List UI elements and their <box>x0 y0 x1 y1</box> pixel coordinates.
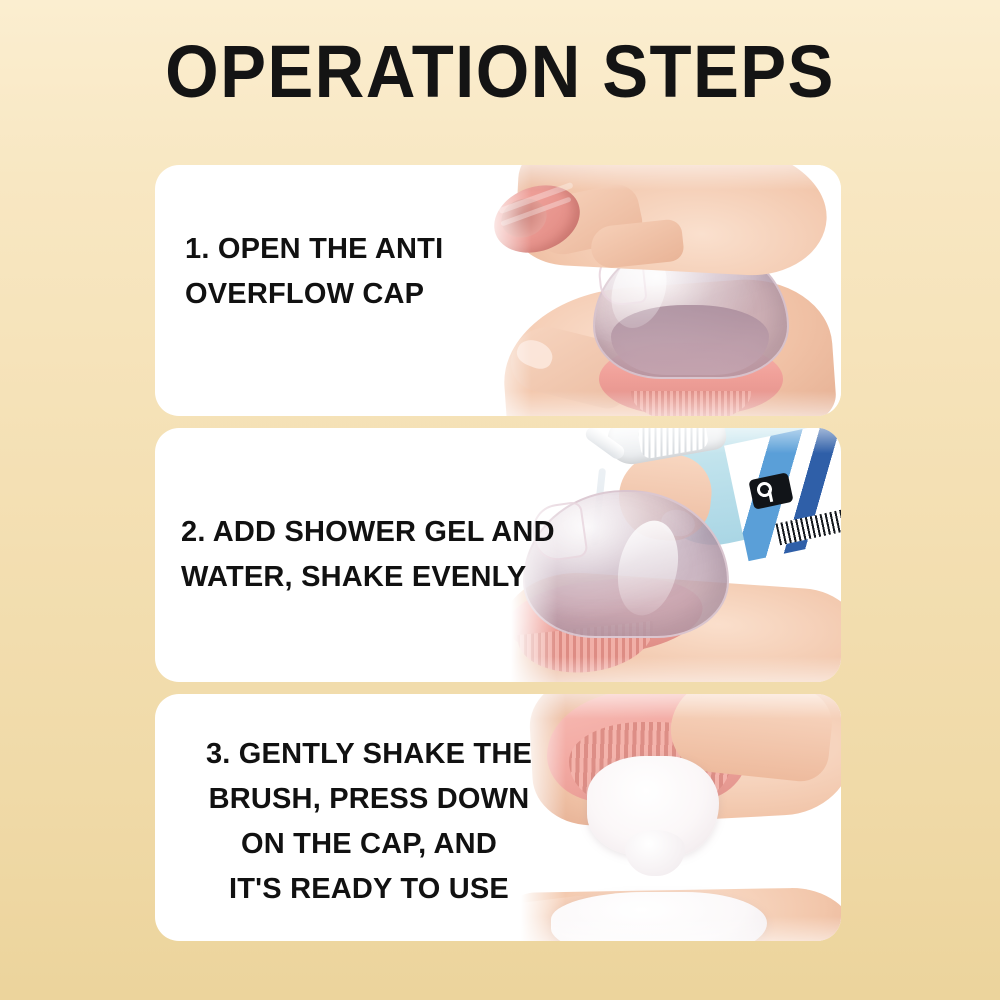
infographic-page: OPERATION STEPS 1. OPEN THE ANTI OVERFLO… <box>0 0 1000 1000</box>
foam-in-palm <box>551 892 767 941</box>
step-3-photo <box>521 694 841 941</box>
step-card-2: 2. ADD SHOWER GEL AND WATER, SHAKE EVENL… <box>155 428 841 682</box>
step-1-line-1: 1. OPEN THE ANTI <box>185 227 585 272</box>
step-3-line-4: IT'S READY TO USE <box>169 867 569 912</box>
step-3-line-2: BRUSH, PRESS DOWN <box>169 777 569 822</box>
foam-drip <box>625 830 685 876</box>
step-3-text: 3. GENTLY SHAKE THE BRUSH, PRESS DOWN ON… <box>169 732 569 912</box>
step-2-text: 2. ADD SHOWER GEL AND WATER, SHAKE EVENL… <box>181 510 591 600</box>
step-1-line-2: OVERFLOW CAP <box>185 272 585 317</box>
step-2-line-1: 2. ADD SHOWER GEL AND <box>181 510 591 555</box>
page-title: OPERATION STEPS <box>35 32 965 112</box>
step-3-line-3: ON THE CAP, AND <box>169 822 569 867</box>
step-3-line-1: 3. GENTLY SHAKE THE <box>169 732 569 777</box>
step-2-line-2: WATER, SHAKE EVENLY <box>181 555 591 600</box>
step-card-3: 3. GENTLY SHAKE THE BRUSH, PRESS DOWN ON… <box>155 694 841 941</box>
step-card-1: 1. OPEN THE ANTI OVERFLOW CAP <box>155 165 841 416</box>
step-1-text: 1. OPEN THE ANTI OVERFLOW CAP <box>185 227 585 317</box>
brush-bristles <box>631 391 751 416</box>
